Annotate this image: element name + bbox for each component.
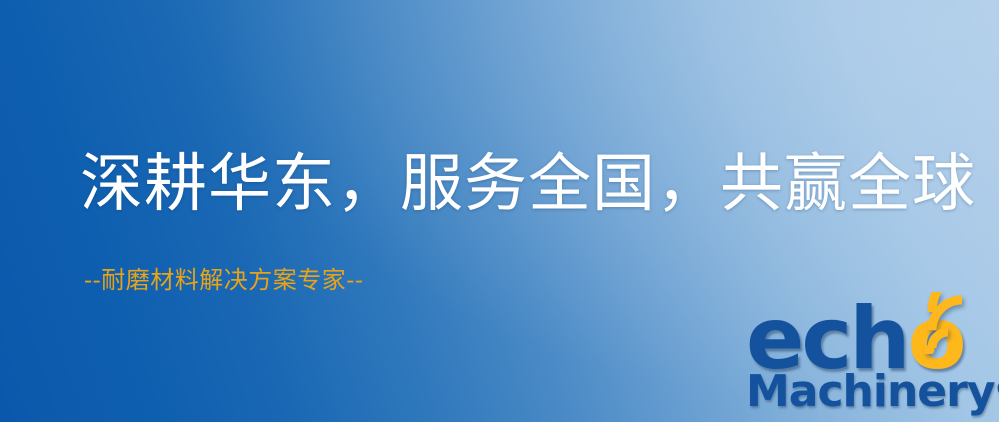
banner-headline: 深耕华东，服务全国，共赢全球 [80, 152, 976, 215]
logo-subtext: Machinery [746, 366, 995, 417]
registered-trademark-icon: ® [995, 377, 999, 402]
signal-arcs-icon [924, 292, 998, 354]
banner-subtitle: --耐磨材料解决方案专家-- [84, 268, 363, 292]
logo-subtext-wrap: Machinery® [746, 370, 999, 414]
echo-machinery-logo[interactable]: echo Machinery® [742, 296, 999, 422]
hero-banner: 深耕华东，服务全国，共赢全球 --耐磨材料解决方案专家-- echo Machi… [0, 0, 999, 422]
